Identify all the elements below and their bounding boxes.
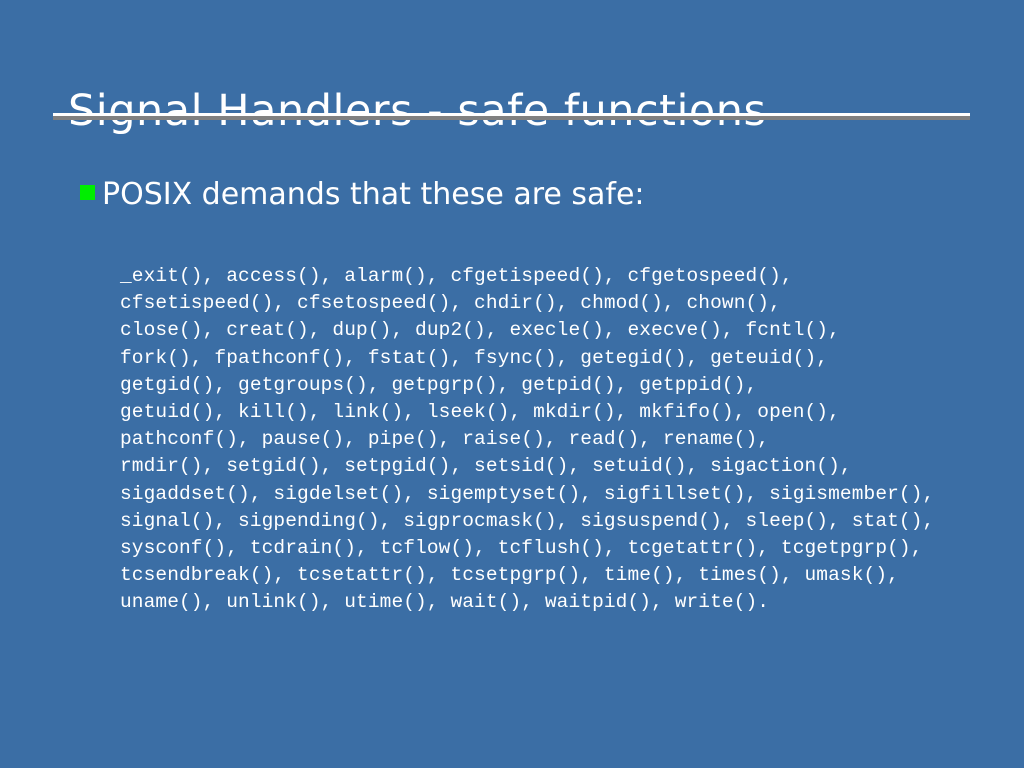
function-list-line: fork(), fpathconf(), fstat(), fsync(), g…	[120, 345, 1000, 372]
green-square-bullet-icon	[80, 185, 95, 200]
function-list-line: sigaddset(), sigdelset(), sigemptyset(),…	[120, 481, 1000, 508]
title-underline-rule	[53, 113, 970, 120]
function-list-line: sysconf(), tcdrain(), tcflow(), tcflush(…	[120, 535, 1000, 562]
function-list-line: cfsetispeed(), cfsetospeed(), chdir(), c…	[120, 290, 1000, 317]
presentation-slide: Signal Handlers - safe functions POSIX d…	[0, 0, 1024, 768]
function-list-line: getuid(), kill(), link(), lseek(), mkdir…	[120, 399, 1000, 426]
function-list-line: close(), creat(), dup(), dup2(), execle(…	[120, 317, 1000, 344]
function-list-line: signal(), sigpending(), sigprocmask(), s…	[120, 508, 1000, 535]
function-list-line: uname(), unlink(), utime(), wait(), wait…	[120, 589, 1000, 616]
function-list-line: _exit(), access(), alarm(), cfgetispeed(…	[120, 263, 1000, 290]
function-list-line: rmdir(), setgid(), setpgid(), setsid(), …	[120, 453, 1000, 480]
bullet-item-posix: POSIX demands that these are safe:	[80, 176, 645, 214]
title-rule-shadow	[53, 116, 970, 120]
function-list-line: pathconf(), pause(), pipe(), raise(), re…	[120, 426, 1000, 453]
bullet-item-label: POSIX demands that these are safe:	[102, 176, 645, 214]
function-list-line: getgid(), getgroups(), getpgrp(), getpid…	[120, 372, 1000, 399]
slide-title: Signal Handlers - safe functions	[68, 85, 988, 137]
function-list-line: tcsendbreak(), tcsetattr(), tcsetpgrp(),…	[120, 562, 1000, 589]
safe-functions-list: _exit(), access(), alarm(), cfgetispeed(…	[120, 263, 1000, 617]
